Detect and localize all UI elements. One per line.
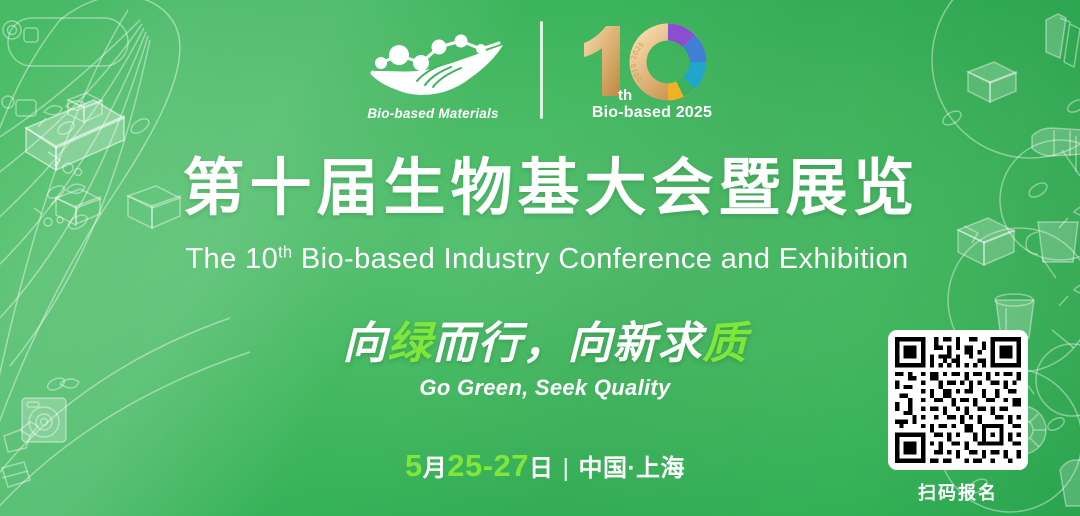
date-day-range: 25-27 — [447, 448, 529, 483]
page-title-english: The 10th Bio-based Industry Conference a… — [0, 245, 1080, 274]
logo-anniversary-caption: Bio-based 2025 — [592, 104, 712, 122]
logo-anniversary: 2015-2025 th Bio-based 2025 — [565, 18, 740, 122]
slogan-part-3: 质 — [703, 319, 748, 368]
subtitle-ordinal: th — [278, 243, 292, 261]
date-month-char: 月 — [423, 455, 448, 482]
subtitle-prefix: The 10 — [185, 243, 278, 275]
event-location: 中国·上海 — [579, 455, 686, 482]
logo-divider — [540, 21, 543, 119]
logo-leaf-caption: Bio-based Materials — [367, 106, 498, 121]
slogan-part-0: 向 — [343, 319, 388, 368]
qr-registration-block[interactable]: 扫码报名 — [888, 330, 1028, 505]
subtitle-suffix: Bio-based Industry Conference and Exhibi… — [292, 243, 908, 275]
date-month-number: 5 — [405, 448, 423, 483]
anniversary-10-ring-icon: 2015-2025 th — [576, 18, 728, 106]
leaf-molecule-icon — [359, 19, 507, 105]
qr-caption: 扫码报名 — [918, 479, 998, 505]
page-title-chinese: 第十届生物基大会暨展览 — [0, 158, 1080, 220]
slogan-part-2: 而行，向新求 — [433, 319, 703, 368]
qr-code-icon[interactable] — [888, 330, 1028, 470]
date-day-char: 日 — [529, 455, 554, 482]
banner-content: Bio-based Materials — [0, 0, 1080, 516]
logo-row: Bio-based Materials — [0, 18, 1080, 122]
slogan-part-1: 绿 — [388, 319, 433, 368]
logo-bio-based-materials: Bio-based Materials — [341, 19, 526, 121]
event-banner: Bio-based Materials — [0, 0, 1080, 516]
anniversary-ordinal: th — [618, 87, 632, 104]
date-separator: | — [563, 456, 570, 481]
